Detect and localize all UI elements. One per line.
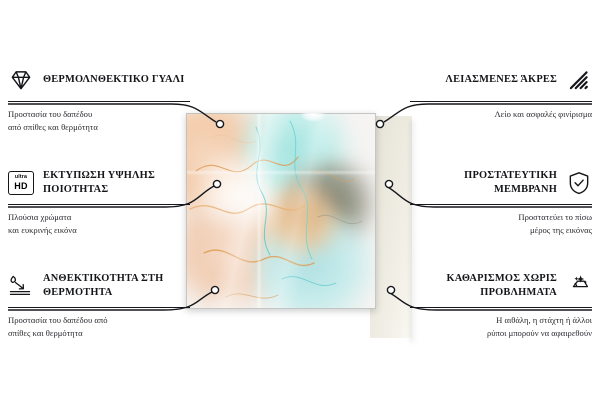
feature-description: Πλούσια χρώματα και ευκρινής εικόνα — [8, 211, 190, 237]
infographic-stage: ΘΕΡΜΟΛΝΘΕΚΤΙΚΟ ΓΥΑΛΙ Προστασία του δαπέδ… — [0, 0, 600, 400]
shield-check-icon — [566, 170, 592, 196]
polished-edges-icon — [566, 67, 592, 93]
feature-header: ΑΝΘΕΚΤΙΚΟΤΗΤΑ ΣΤΗ ΘΕΡΜΟΤΗΤΑ — [8, 268, 190, 304]
feature-rule — [410, 307, 592, 308]
feature-rule — [410, 101, 592, 102]
product-back-panel — [370, 116, 412, 338]
feature-title: ΚΑΘΑΡΙΣΜΟΣ ΧΩΡΙΣ ΠΡΟΒΛΗΜΑΤΑ — [410, 272, 557, 300]
feature-description: Προστατεύει το πίσω μέρος της εικόνας — [410, 211, 592, 237]
badge-hd-label: HD — [14, 182, 28, 191]
product-glass-panel — [186, 113, 376, 309]
feature-title: ΘΕΡΜΟΛΝΘΕΚΤΙΚΟ ΓΥΑΛΙ — [43, 73, 190, 87]
ultra-hd-badge-icon: ultra HD — [8, 171, 34, 195]
feature-header: ΘΕΡΜΟΛΝΘΕΚΤΙΚΟ ΓΥΑΛΙ — [8, 62, 190, 98]
diamond-icon — [8, 67, 34, 93]
feature-description: Προστασία του δαπέδου από σπίθες και θερ… — [8, 314, 190, 340]
feature-title: ΛΕΙΑΣΜΕΝΕΣ ΆΚΡΕΣ — [410, 73, 557, 87]
glass-glare — [300, 113, 326, 122]
badge-ultra-label: ultra — [15, 175, 27, 180]
feature-rule — [8, 101, 190, 102]
feature-heat-durability: ΑΝΘΕΚΤΙΚΟΤΗΤΑ ΣΤΗ ΘΕΡΜΟΤΗΤΑ Προστασία το… — [8, 268, 190, 340]
feature-protective-membrane: ΠΡΟΣΤΑΤΕΥΤΙΚΗ ΜΕΜΒΡΑΝΗ Προστατεύει το πί… — [410, 165, 592, 237]
glass-edge — [186, 113, 376, 309]
feature-header: ultra HD ΕΚΤΥΠΩΣΗ ΥΨΗΛΗΣ ΠΟΙΟΤΗΤΑΣ — [8, 165, 190, 201]
feature-title: ΑΝΘΕΚΤΙΚΟΤΗΤΑ ΣΤΗ ΘΕΡΜΟΤΗΤΑ — [43, 272, 190, 300]
feature-high-quality-print: ultra HD ΕΚΤΥΠΩΣΗ ΥΨΗΛΗΣ ΠΟΙΟΤΗΤΑΣ Πλούσ… — [8, 165, 190, 237]
feature-title: ΕΚΤΥΠΩΣΗ ΥΨΗΛΗΣ ΠΟΙΟΤΗΤΑΣ — [43, 169, 190, 197]
feature-heat-resistant-glass: ΘΕΡΜΟΛΝΘΕΚΤΙΚΟ ΓΥΑΛΙ Προστασία του δαπέδ… — [8, 62, 190, 134]
feature-header: ΠΡΟΣΤΑΤΕΥΤΙΚΗ ΜΕΜΒΡΑΝΗ — [410, 165, 592, 201]
feature-description: Λείο και ασφαλές φινίρισμα — [410, 108, 592, 121]
feature-rule — [410, 204, 592, 205]
feature-header: ΚΑΘΑΡΙΣΜΟΣ ΧΩΡΙΣ ΠΡΟΒΛΗΜΑΤΑ — [410, 268, 592, 304]
feature-header: ΛΕΙΑΣΜΕΝΕΣ ΆΚΡΕΣ — [410, 62, 592, 98]
feature-rule — [8, 307, 190, 308]
flame-heat-resistance-icon — [8, 273, 34, 299]
feature-rule — [8, 204, 190, 205]
feature-description: Η αιθάλη, η στάχτη ή άλλοι ρύποι μπορούν… — [410, 314, 592, 340]
feature-polished-edges: ΛΕΙΑΣΜΕΝΕΣ ΆΚΡΕΣ Λείο και ασφαλές φινίρι… — [410, 62, 592, 121]
feature-description: Προστασία του δαπέδου από σπίθες και θερ… — [8, 108, 190, 134]
feature-easy-cleaning: ΚΑΘΑΡΙΣΜΟΣ ΧΩΡΙΣ ΠΡΟΒΛΗΜΑΤΑ Η αιθάλη, η … — [410, 268, 592, 340]
feature-title: ΠΡΟΣΤΑΤΕΥΤΙΚΗ ΜΕΜΒΡΑΝΗ — [410, 169, 557, 197]
sparkle-clean-icon — [566, 273, 592, 299]
